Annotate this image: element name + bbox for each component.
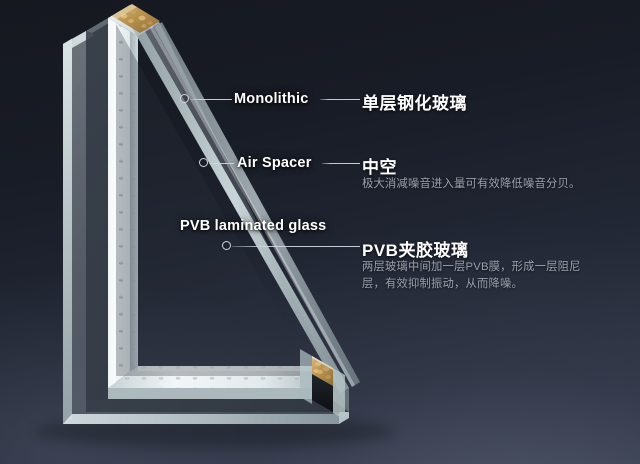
callout-en-label-monolithic: Monolithic xyxy=(234,91,309,107)
callout-dot-monolithic[interactable] xyxy=(180,94,189,103)
callout-cn-title-monolithic: 单层钢化玻璃 xyxy=(362,89,467,114)
diagram-screenshot: Monolithic 单层钢化玻璃 Air Spacer 中空 极大消减噪音进入… xyxy=(0,0,640,464)
callout-dot-pvb[interactable] xyxy=(222,241,231,250)
callout-leader-air-spacer-left xyxy=(209,163,234,164)
callout-cn-desc-pvb: 两层玻璃中间加一层PVB膜，形成一层阻尼 层，有效抑制振动，从而降噪。 xyxy=(362,259,630,293)
callout-cn-title-pvb: PVB夹胶玻璃 xyxy=(362,236,468,261)
inner-pane-right-column xyxy=(300,349,312,404)
vertical-spacer-bar-rib xyxy=(108,18,116,388)
callout-dot-air-spacer[interactable] xyxy=(199,158,208,167)
horizontal-spacer-bar-front-face xyxy=(108,388,331,399)
callout-leader-monolithic-right xyxy=(320,99,360,100)
callout-en-label-air-spacer: Air Spacer xyxy=(237,155,312,171)
callout-leader-monolithic-left xyxy=(190,99,232,100)
cavity-interior-shade xyxy=(116,24,300,376)
callout-cn-desc-air-spacer: 极大消减噪音进入量可有效降低噪音分贝。 xyxy=(362,176,630,193)
callout-leader-pvb xyxy=(232,246,360,247)
callout-en-label-pvb: PVB laminated glass xyxy=(180,218,326,234)
callout-leader-air-spacer-right xyxy=(322,163,360,164)
callout-cn-title-air-spacer: 中空 xyxy=(362,153,397,178)
